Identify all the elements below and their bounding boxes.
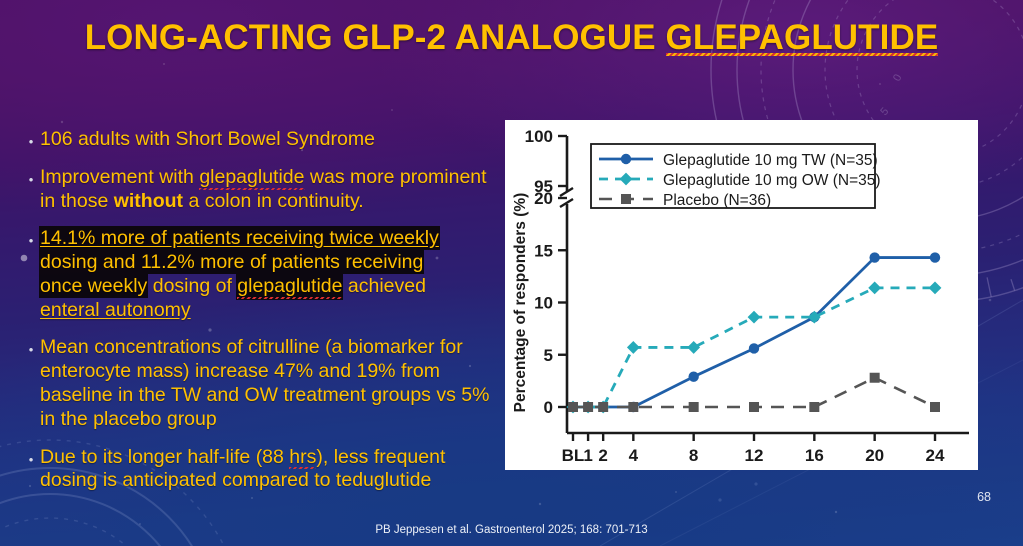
list-item: • 106 adults with Short Bowel Syndrome [22,128,492,152]
list-item: • 14.1% more of patients receiving twice… [22,227,492,322]
responders-line-chart: 0510152095100BL124812162024Percentage of… [505,120,978,470]
plain-run-line3d: achieved [342,275,425,297]
plain-run-line3b: dosing of [147,275,237,297]
series-marker-square [870,373,880,383]
y-tick-label: 95 [534,177,553,196]
y-tick-label: 100 [525,127,553,146]
series-marker-square [583,402,593,412]
x-tick-label: 1 [583,446,592,465]
series-marker-diamond [627,341,640,354]
svg-text:5: 5 [878,105,891,118]
highlight-run-line1: 14.1% more of patients receiving twice w… [40,227,439,249]
page-number: 68 [977,490,991,504]
series-marker-square [598,402,608,412]
bullet-marker-icon: • [22,227,40,247]
bullet-marker-icon: • [22,446,40,466]
bullet-text-4: Mean concentrations of citrulline (a bio… [40,336,492,431]
citation-text: PB Jeppesen et al. Gastroenterol 2025; 1… [0,524,1023,536]
series-line-0 [573,258,935,407]
series-marker-circle [930,252,940,262]
underlined-run-line4: enteral autonomy [40,299,191,321]
svg-text:0: 0 [891,72,904,83]
title-drug-name-squiggly: GLEPAGLUTIDE [666,20,939,57]
x-tick-label: 20 [865,446,884,465]
y-axis-label: Percentage of responders (%) [512,193,529,413]
series-marker-diamond [748,311,761,324]
highlight-run-line2: dosing and 11.2% more of patients receiv… [40,251,423,273]
list-item: • Improvement with glepaglutide was more… [22,166,492,214]
legend-marker-circle [621,154,631,164]
series-marker-diamond [929,281,942,294]
bullet-text-1: 106 adults with Short Bowel Syndrome [40,128,492,152]
bold-word-without: without [114,190,183,212]
squiggly-word-hrs: hrs [289,446,316,470]
slide-title: LONG-ACTING GLP-2 ANALOGUE GLEPAGLUTIDE [0,20,1023,57]
bullet-marker-icon: • [22,128,40,148]
x-tick-label: 4 [629,446,639,465]
y-tick-label: 0 [544,398,553,417]
bullet-text-2: Improvement with glepaglutide was more p… [40,166,492,214]
series-marker-diamond [868,281,881,294]
bullet-marker-icon: • [22,166,40,186]
series-marker-circle [749,343,759,353]
bullet-text-5: Due to its longer half-life (88 hrs), le… [40,446,492,494]
highlight-squiggly-glepaglutide: glepaglutide [237,275,342,299]
list-item: • Mean concentrations of citrulline (a b… [22,336,492,431]
series-marker-square [568,402,578,412]
x-tick-label: 16 [805,446,824,465]
x-tick-label: BL [562,446,585,465]
series-marker-square [930,402,940,412]
x-tick-label: 8 [689,446,698,465]
list-item: • Due to its longer half-life (88 hrs), … [22,446,492,494]
title-main-text: LONG-ACTING GLP-2 ANALOGUE [85,18,666,57]
bullet-list: • 106 adults with Short Bowel Syndrome •… [22,128,492,507]
legend-label-0: Glepaglutide 10 mg TW (N=35) [663,152,878,169]
series-marker-square [749,402,759,412]
series-marker-circle [869,252,879,262]
chart-svg: 0510152095100BL124812162024Percentage of… [505,120,978,470]
squiggly-word-glepaglutide: glepaglutide [199,166,304,190]
x-tick-label: 24 [926,446,945,465]
series-marker-diamond [687,341,700,354]
highlight-run-line3a: once weekly [40,275,147,297]
bullet-marker-icon: • [22,336,40,356]
y-tick-label: 10 [534,294,553,313]
x-tick-label: 12 [745,446,764,465]
series-marker-square [689,402,699,412]
legend-label-2: Placebo (N=36) [663,192,771,209]
x-tick-label: 2 [598,446,607,465]
legend-label-1: Glepaglutide 10 mg OW (N=35) [663,172,881,189]
series-marker-circle [688,371,698,381]
bullet-text-3-highlighted: 14.1% more of patients receiving twice w… [40,227,492,322]
y-tick-label: 15 [534,241,553,260]
series-marker-square [809,402,819,412]
y-tick-label: 5 [544,346,553,365]
slide-root: 0 5 1 0 LONG-ACTING GLP-2 ANALOGUE GLEPA… [0,0,1023,546]
legend-marker-square [621,194,631,204]
series-marker-square [628,402,638,412]
